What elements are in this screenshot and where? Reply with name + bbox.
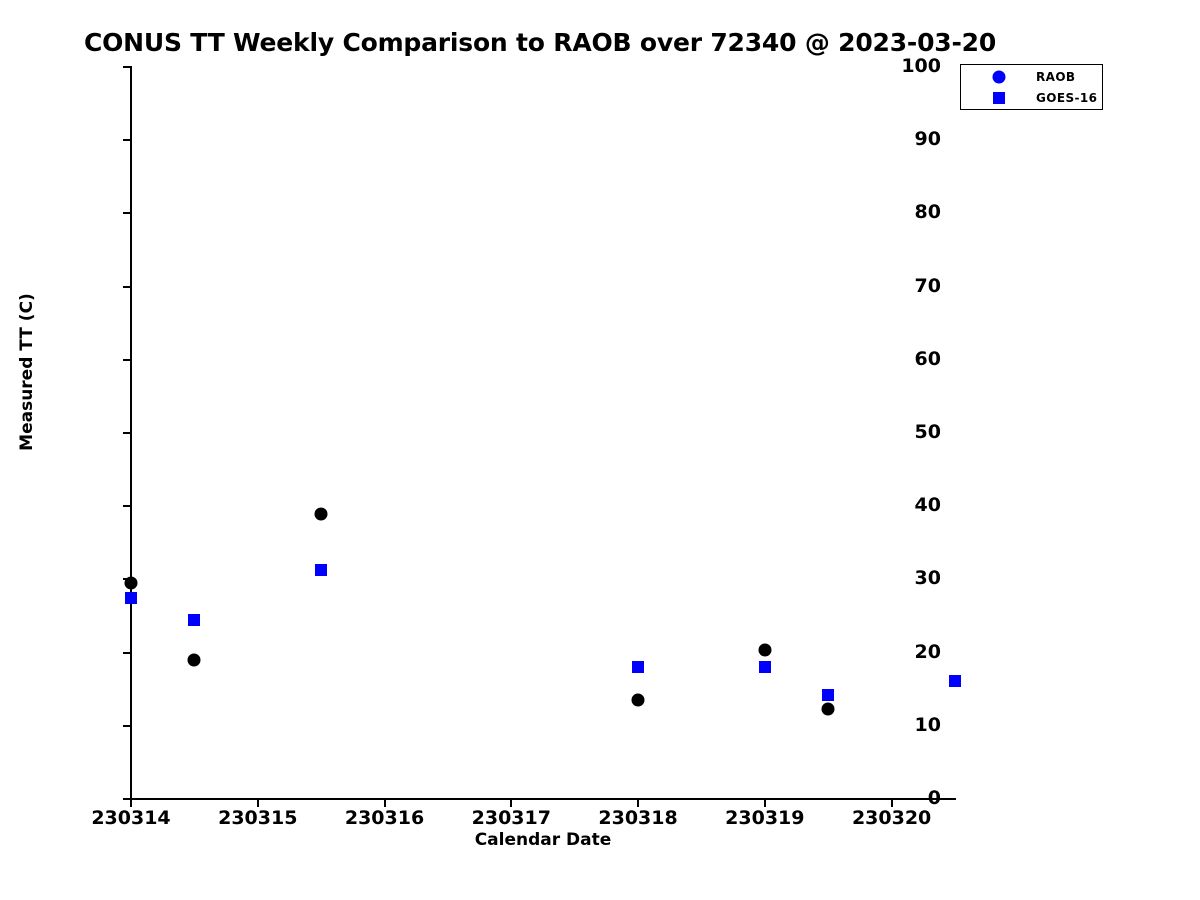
y-tick-mark bbox=[123, 66, 131, 68]
plot-area: 0102030405060708090100 23031423031523031… bbox=[131, 67, 955, 799]
x-tick-label: 230319 bbox=[725, 809, 804, 828]
data-point-goes-16 bbox=[759, 661, 771, 673]
x-tick-mark bbox=[130, 799, 132, 807]
x-tick-mark bbox=[510, 799, 512, 807]
y-tick-label: 50 bbox=[915, 423, 941, 442]
data-point-goes-16 bbox=[949, 675, 961, 687]
y-tick-label: 0 bbox=[928, 789, 941, 808]
y-tick-mark bbox=[123, 359, 131, 361]
legend-circle-swatch bbox=[993, 71, 1006, 84]
x-axis-label: Calendar Date bbox=[131, 830, 955, 850]
y-tick-label: 70 bbox=[915, 277, 941, 296]
x-tick-label: 230314 bbox=[91, 809, 170, 828]
x-tick-label: 230316 bbox=[345, 809, 424, 828]
y-tick-label: 20 bbox=[915, 643, 941, 662]
x-tick-mark bbox=[891, 799, 893, 807]
y-axis-label: Measured TT (C) bbox=[17, 162, 37, 582]
data-point-goes-16 bbox=[315, 564, 327, 576]
y-tick-mark bbox=[123, 652, 131, 654]
chart-legend: RAOB GOES-16 bbox=[960, 64, 1103, 110]
x-tick-label: 230315 bbox=[218, 809, 297, 828]
legend-label-raob: RAOB bbox=[1036, 67, 1075, 87]
data-point-goes-16 bbox=[125, 592, 137, 604]
circle-marker-icon bbox=[989, 67, 1009, 87]
y-tick-mark bbox=[123, 286, 131, 288]
data-point-raob bbox=[632, 694, 645, 707]
data-point-goes-16 bbox=[188, 614, 200, 626]
legend-entry-goes16: GOES-16 bbox=[961, 88, 1102, 108]
data-point-raob bbox=[188, 653, 201, 666]
y-tick-mark bbox=[123, 725, 131, 727]
legend-entry-raob: RAOB bbox=[961, 67, 1102, 87]
y-tick-mark bbox=[123, 139, 131, 141]
x-tick-mark bbox=[637, 799, 639, 807]
x-tick-label: 230320 bbox=[852, 809, 931, 828]
y-tick-label: 60 bbox=[915, 350, 941, 369]
x-tick-label: 230317 bbox=[472, 809, 551, 828]
y-tick-label: 100 bbox=[901, 57, 941, 76]
x-tick-mark bbox=[384, 799, 386, 807]
y-tick-mark bbox=[123, 212, 131, 214]
chart-title: CONUS TT Weekly Comparison to RAOB over … bbox=[0, 28, 1080, 57]
data-point-raob bbox=[125, 577, 138, 590]
data-point-raob bbox=[822, 702, 835, 715]
x-tick-mark bbox=[257, 799, 259, 807]
legend-square-swatch bbox=[993, 92, 1005, 104]
data-point-raob bbox=[315, 508, 328, 521]
x-tick-mark bbox=[764, 799, 766, 807]
y-tick-label: 90 bbox=[915, 130, 941, 149]
x-tick-label: 230318 bbox=[598, 809, 677, 828]
y-tick-label: 10 bbox=[915, 716, 941, 735]
y-tick-label: 80 bbox=[915, 203, 941, 222]
square-marker-icon bbox=[989, 88, 1009, 108]
y-tick-mark bbox=[123, 432, 131, 434]
data-point-goes-16 bbox=[822, 689, 834, 701]
data-point-raob bbox=[758, 643, 771, 656]
chart-figure: CONUS TT Weekly Comparison to RAOB over … bbox=[0, 0, 1200, 900]
y-tick-label: 30 bbox=[915, 569, 941, 588]
data-point-goes-16 bbox=[632, 661, 644, 673]
y-tick-mark bbox=[123, 505, 131, 507]
y-tick-label: 40 bbox=[915, 496, 941, 515]
legend-label-goes16: GOES-16 bbox=[1036, 88, 1097, 108]
